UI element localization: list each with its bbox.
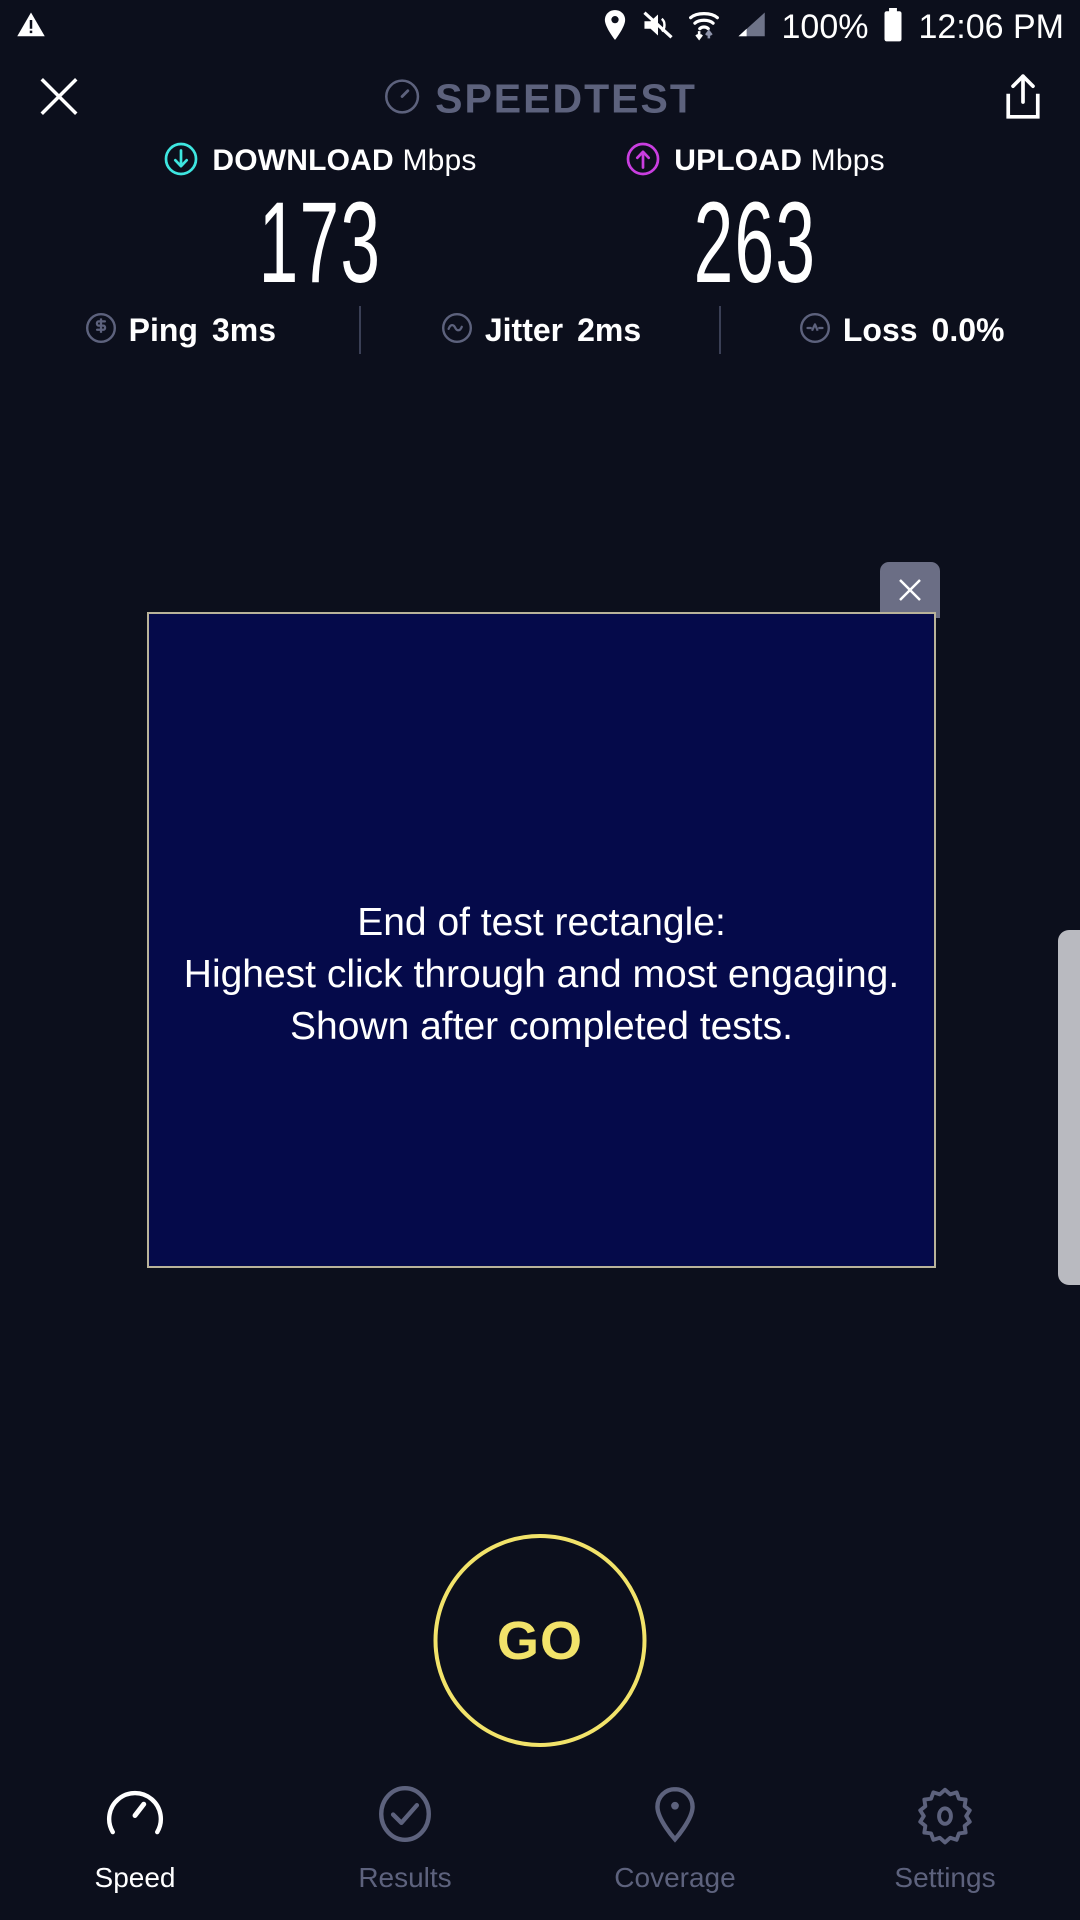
speedometer-icon [104, 1783, 166, 1850]
upload-unit: Mbps [811, 144, 885, 177]
go-button[interactable]: GO [434, 1534, 647, 1747]
go-button-label: GO [497, 1610, 583, 1672]
nav-label-coverage: Coverage [614, 1862, 735, 1894]
app-brand: SPEEDTEST [383, 76, 697, 123]
location-pin-icon [602, 9, 628, 46]
ad-line-3: Shown after completed tests. [184, 1001, 899, 1053]
ping-label: Ping [129, 312, 198, 349]
loss-icon [797, 310, 833, 351]
check-circle-icon [374, 1783, 436, 1850]
app-header: SPEEDTEST [0, 58, 1080, 140]
ping-icon [83, 310, 119, 351]
download-label: DOWNLOAD [212, 144, 394, 177]
stat-loss: Loss 0.0% [721, 310, 1080, 351]
ad-line-1: End of test rectangle: [184, 897, 899, 949]
app-title: SPEEDTEST [435, 76, 697, 123]
nav-item-results[interactable]: Results [270, 1783, 540, 1894]
nav-item-coverage[interactable]: Coverage [540, 1783, 810, 1894]
nav-item-settings[interactable]: Settings [810, 1783, 1080, 1894]
upload-result: UPLOAD Mbps 263 [540, 140, 970, 301]
gear-icon [914, 1783, 976, 1850]
nav-label-settings: Settings [894, 1862, 995, 1894]
status-bar-right-icons: 100% 12:06 PM [602, 8, 1065, 47]
wifi-data-transfer-icon [688, 8, 720, 47]
upload-label: UPLOAD [674, 144, 802, 177]
warning-triangle-icon [16, 10, 46, 45]
battery-full-icon [882, 8, 904, 47]
stat-jitter: Jitter 2ms [361, 310, 720, 351]
loss-label: Loss [843, 312, 918, 349]
bottom-navigation-bar: Speed Results Coverage [0, 1775, 1080, 1920]
nav-item-speed[interactable]: Speed [0, 1783, 270, 1894]
vertical-scrollbar[interactable] [1058, 930, 1080, 1285]
cellular-signal-icon [734, 10, 768, 45]
share-icon[interactable] [1002, 73, 1044, 126]
close-icon[interactable] [36, 74, 82, 125]
ad-text-block: End of test rectangle: Highest click thr… [166, 897, 917, 1053]
ad-banner[interactable]: End of test rectangle: Highest click thr… [147, 612, 936, 1268]
nav-label-speed: Speed [95, 1862, 176, 1894]
nav-label-results: Results [358, 1862, 451, 1894]
download-arrow-circle-icon [163, 141, 199, 182]
ping-value: 3ms [212, 312, 276, 349]
network-stats-row: Ping 3ms Jitter 2ms [0, 302, 1080, 358]
stat-ping: Ping 3ms [0, 310, 359, 351]
speedtest-app-screen: 100% 12:06 PM SPEE [0, 0, 1080, 1920]
download-unit: Mbps [402, 144, 476, 177]
volume-mute-icon [642, 10, 674, 45]
status-bar: 100% 12:06 PM [0, 0, 1080, 55]
ad-line-2: Highest click through and most engaging. [184, 949, 899, 1001]
download-result: DOWNLOAD Mbps 173 [110, 140, 540, 301]
clock-label: 12:06 PM [918, 8, 1064, 47]
download-value: 173 [259, 186, 382, 301]
ad-close-button[interactable] [880, 562, 940, 618]
upload-value: 263 [694, 186, 817, 301]
location-pin-icon [644, 1783, 706, 1850]
speedometer-icon [383, 78, 421, 121]
jitter-value: 2ms [577, 312, 641, 349]
battery-percent-label: 100% [782, 8, 869, 47]
status-bar-left-icons [16, 10, 46, 45]
loss-value: 0.0% [932, 312, 1005, 349]
upload-arrow-circle-icon [625, 141, 661, 182]
results-summary: DOWNLOAD Mbps 173 UPL [0, 140, 1080, 301]
jitter-label: Jitter [485, 312, 563, 349]
jitter-icon [439, 310, 475, 351]
